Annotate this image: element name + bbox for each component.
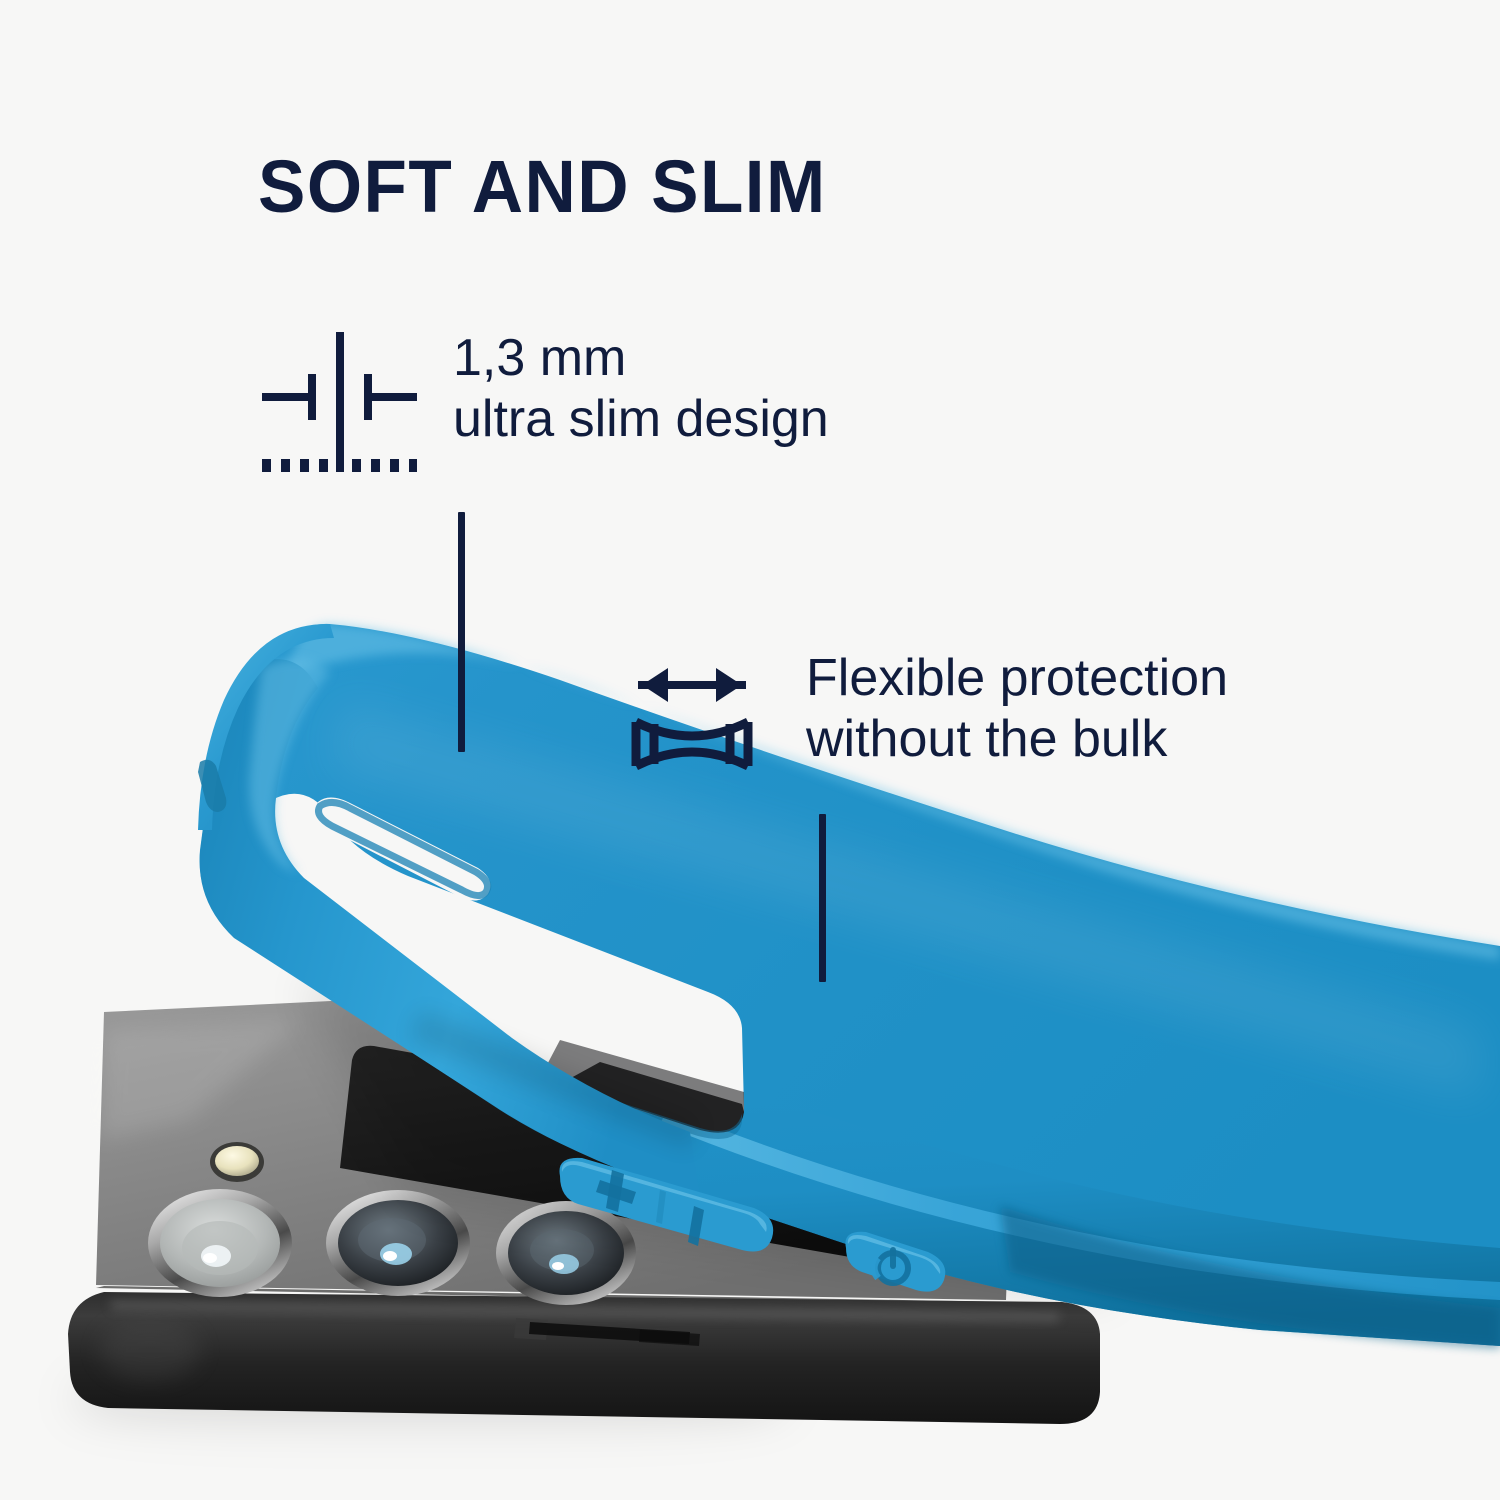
phone-flash-module <box>210 1142 264 1182</box>
annotation-flexible-protection-line1: Flexible protection <box>806 648 1228 709</box>
page-title: SOFT AND SLIM <box>258 150 827 224</box>
annotation-ultra-slim-text: 1,3 mm ultra slim design <box>453 328 829 450</box>
phone-camera-lens-2 <box>326 1190 470 1296</box>
annotation-ultra-slim: 1,3 mm ultra slim design <box>262 332 829 487</box>
thickness-caliper-icon <box>262 332 417 487</box>
annotation-flexible-protection-line2: without the bulk <box>806 709 1228 770</box>
phone-camera-lens-1 <box>148 1189 292 1297</box>
annotation-ultra-slim-line2: ultra slim design <box>453 389 829 450</box>
annotation-flexible-protection-text: Flexible protection without the bulk <box>806 648 1228 770</box>
stretch-flex-arrow-icon <box>612 654 772 779</box>
annotation-flexible-protection: Flexible protection without the bulk <box>612 654 1228 779</box>
leader-line-flexible-protection <box>819 814 826 982</box>
leader-line-ultra-slim <box>458 512 465 752</box>
product-feature-graphic: SOFT AND SLIM <box>0 0 1500 1500</box>
annotation-ultra-slim-line1: 1,3 mm <box>453 328 829 389</box>
